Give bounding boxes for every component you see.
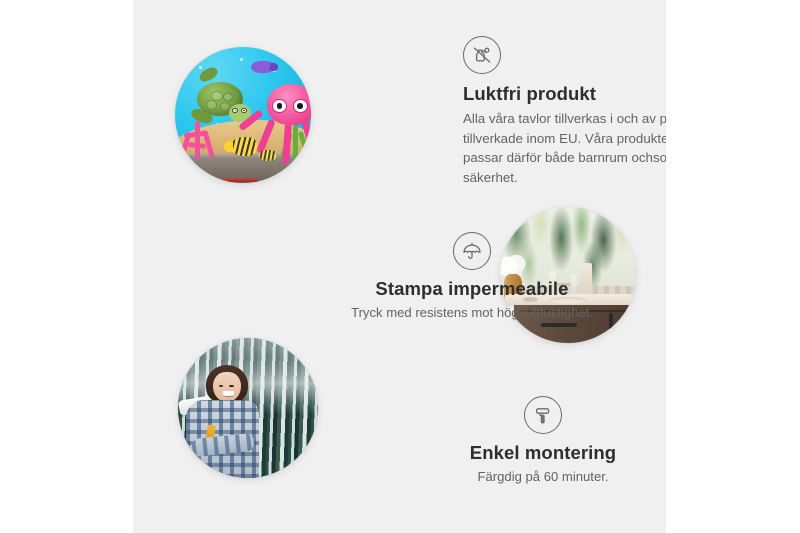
- octopus-head: [267, 84, 311, 125]
- feature-description: Tryck med resistens mot hög luftfuktighe…: [341, 303, 603, 322]
- door-handle: [609, 313, 613, 331]
- underwater-kids-mural-thumbnail: [175, 47, 311, 183]
- paint-roller-icon: [524, 396, 562, 434]
- woman-eye: [229, 385, 233, 387]
- small-striped-fish: [259, 150, 275, 161]
- woman-eye: [219, 385, 223, 387]
- feature-block-assembly: Enkel montering Färgdig på 60 minuter.: [433, 396, 653, 486]
- forest-mural-scene: [178, 338, 318, 478]
- underwater-scene: [175, 47, 311, 183]
- feature-description: Färgdig på 60 minuter.: [433, 467, 653, 486]
- purple-fish: [251, 61, 271, 73]
- feature-title: Stampa impermeabile: [341, 278, 603, 300]
- feature-description: Alla våra tavlor tillverkas i och av pro…: [463, 109, 666, 187]
- product-feature-banner: Luktfri produkt Alla våra tavlor tillver…: [0, 0, 800, 533]
- woman-smile: [223, 391, 234, 397]
- umbrella-icon: [453, 232, 491, 270]
- feature-title: Enkel montering: [433, 442, 653, 464]
- feature-block-odourless: Luktfri produkt Alla våra tavlor tillver…: [463, 36, 666, 187]
- woman-paint-roller-forest-thumbnail: [178, 338, 318, 478]
- no-fragrance-spray-icon: [463, 36, 501, 74]
- strip-pale-block: [283, 179, 307, 182]
- drawer-handle: [541, 323, 578, 327]
- pink-coral: [178, 118, 219, 159]
- yellow-striped-fish: [231, 137, 257, 156]
- feature-title: Luktfri produkt: [463, 83, 666, 105]
- strip-red-block: [206, 179, 258, 183]
- feature-block-waterproof: Stampa impermeabile Tryck med resistens …: [341, 232, 603, 322]
- feature-panel: Luktfri produkt Alla våra tavlor tillver…: [133, 0, 666, 533]
